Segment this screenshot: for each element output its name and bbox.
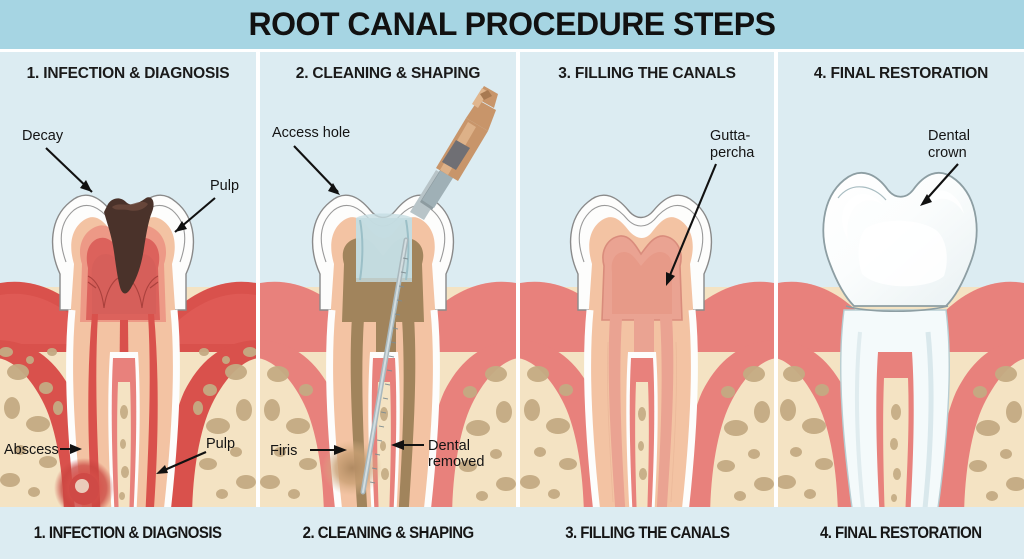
panel-1-header: 1. INFECTION & DIAGNOSIS	[0, 52, 256, 96]
panel-1-header-label: 1. INFECTION & DIAGNOSIS	[27, 65, 230, 83]
caption-2-label: 2. CLEANING & SHAPING	[303, 523, 474, 543]
panel-final-restoration[interactable]: 4. FINAL RESTORATION	[778, 52, 1024, 507]
label-firis: Firis	[270, 443, 297, 459]
root-canal-infographic: ROOT CANAL PROCEDURE STEPS 1. INFECTION …	[0, 0, 1024, 559]
panel-4-header-label: 4. FINAL RESTORATION	[814, 65, 988, 83]
access-hole-leader	[294, 146, 338, 192]
panel-filling-canals[interactable]: 3. FILLING THE CANALS	[520, 52, 774, 507]
caption-band: 1. INFECTION & DIAGNOSIS 2. CLEANING & S…	[0, 507, 1024, 559]
panel-1-illustration: Decay Pulp Abscess Pulp	[0, 52, 256, 507]
title-band: ROOT CANAL PROCEDURE STEPS	[0, 0, 1024, 49]
panel-cleaning-shaping[interactable]: 2. CLEANING & SHAPING	[260, 52, 516, 507]
caption-1: 1. INFECTION & DIAGNOSIS	[0, 507, 256, 559]
label-decay: Decay	[22, 128, 64, 144]
panel-4-header: 4. FINAL RESTORATION	[778, 52, 1024, 96]
panel-infection-diagnosis[interactable]: 1. INFECTION & DIAGNOSIS	[0, 52, 256, 507]
panel-2-illustration: Access hole Firis Dental removed	[260, 52, 516, 507]
page-title: ROOT CANAL PROCEDURE STEPS	[249, 6, 776, 43]
label-abscess: Abscess	[4, 442, 59, 458]
label-dental-removed-2: removed	[428, 454, 484, 470]
panel-2-header: 2. CLEANING & SHAPING	[260, 52, 516, 96]
panel-2-header-label: 2. CLEANING & SHAPING	[296, 65, 480, 83]
caption-2: 2. CLEANING & SHAPING	[260, 507, 516, 559]
label-gutta-percha-1: Gutta-	[710, 128, 750, 144]
caption-3-label: 3. FILLING THE CANALS	[565, 523, 729, 543]
panel-row: 1. INFECTION & DIAGNOSIS	[0, 52, 1024, 507]
label-access-hole: Access hole	[272, 125, 350, 141]
label-dental-crown-2: crown	[928, 145, 967, 161]
label-gutta-percha-2: percha	[710, 145, 755, 161]
caption-3: 3. FILLING THE CANALS	[520, 507, 774, 559]
label-pulp-lower: Pulp	[206, 436, 235, 452]
caption-1-label: 1. INFECTION & DIAGNOSIS	[34, 523, 222, 543]
panel-3-header-label: 3. FILLING THE CANALS	[558, 65, 736, 83]
panel-3-header: 3. FILLING THE CANALS	[520, 52, 774, 96]
caption-4: 4. FINAL RESTORATION	[778, 507, 1024, 559]
panel-3-illustration: Gutta- percha	[520, 52, 774, 507]
caption-4-label: 4. FINAL RESTORATION	[820, 523, 982, 543]
label-pulp-upper: Pulp	[210, 178, 239, 194]
label-dental-removed-1: Dental	[428, 438, 470, 454]
panel-4-illustration: Dental crown	[778, 52, 1024, 507]
label-dental-crown-1: Dental	[928, 128, 970, 144]
